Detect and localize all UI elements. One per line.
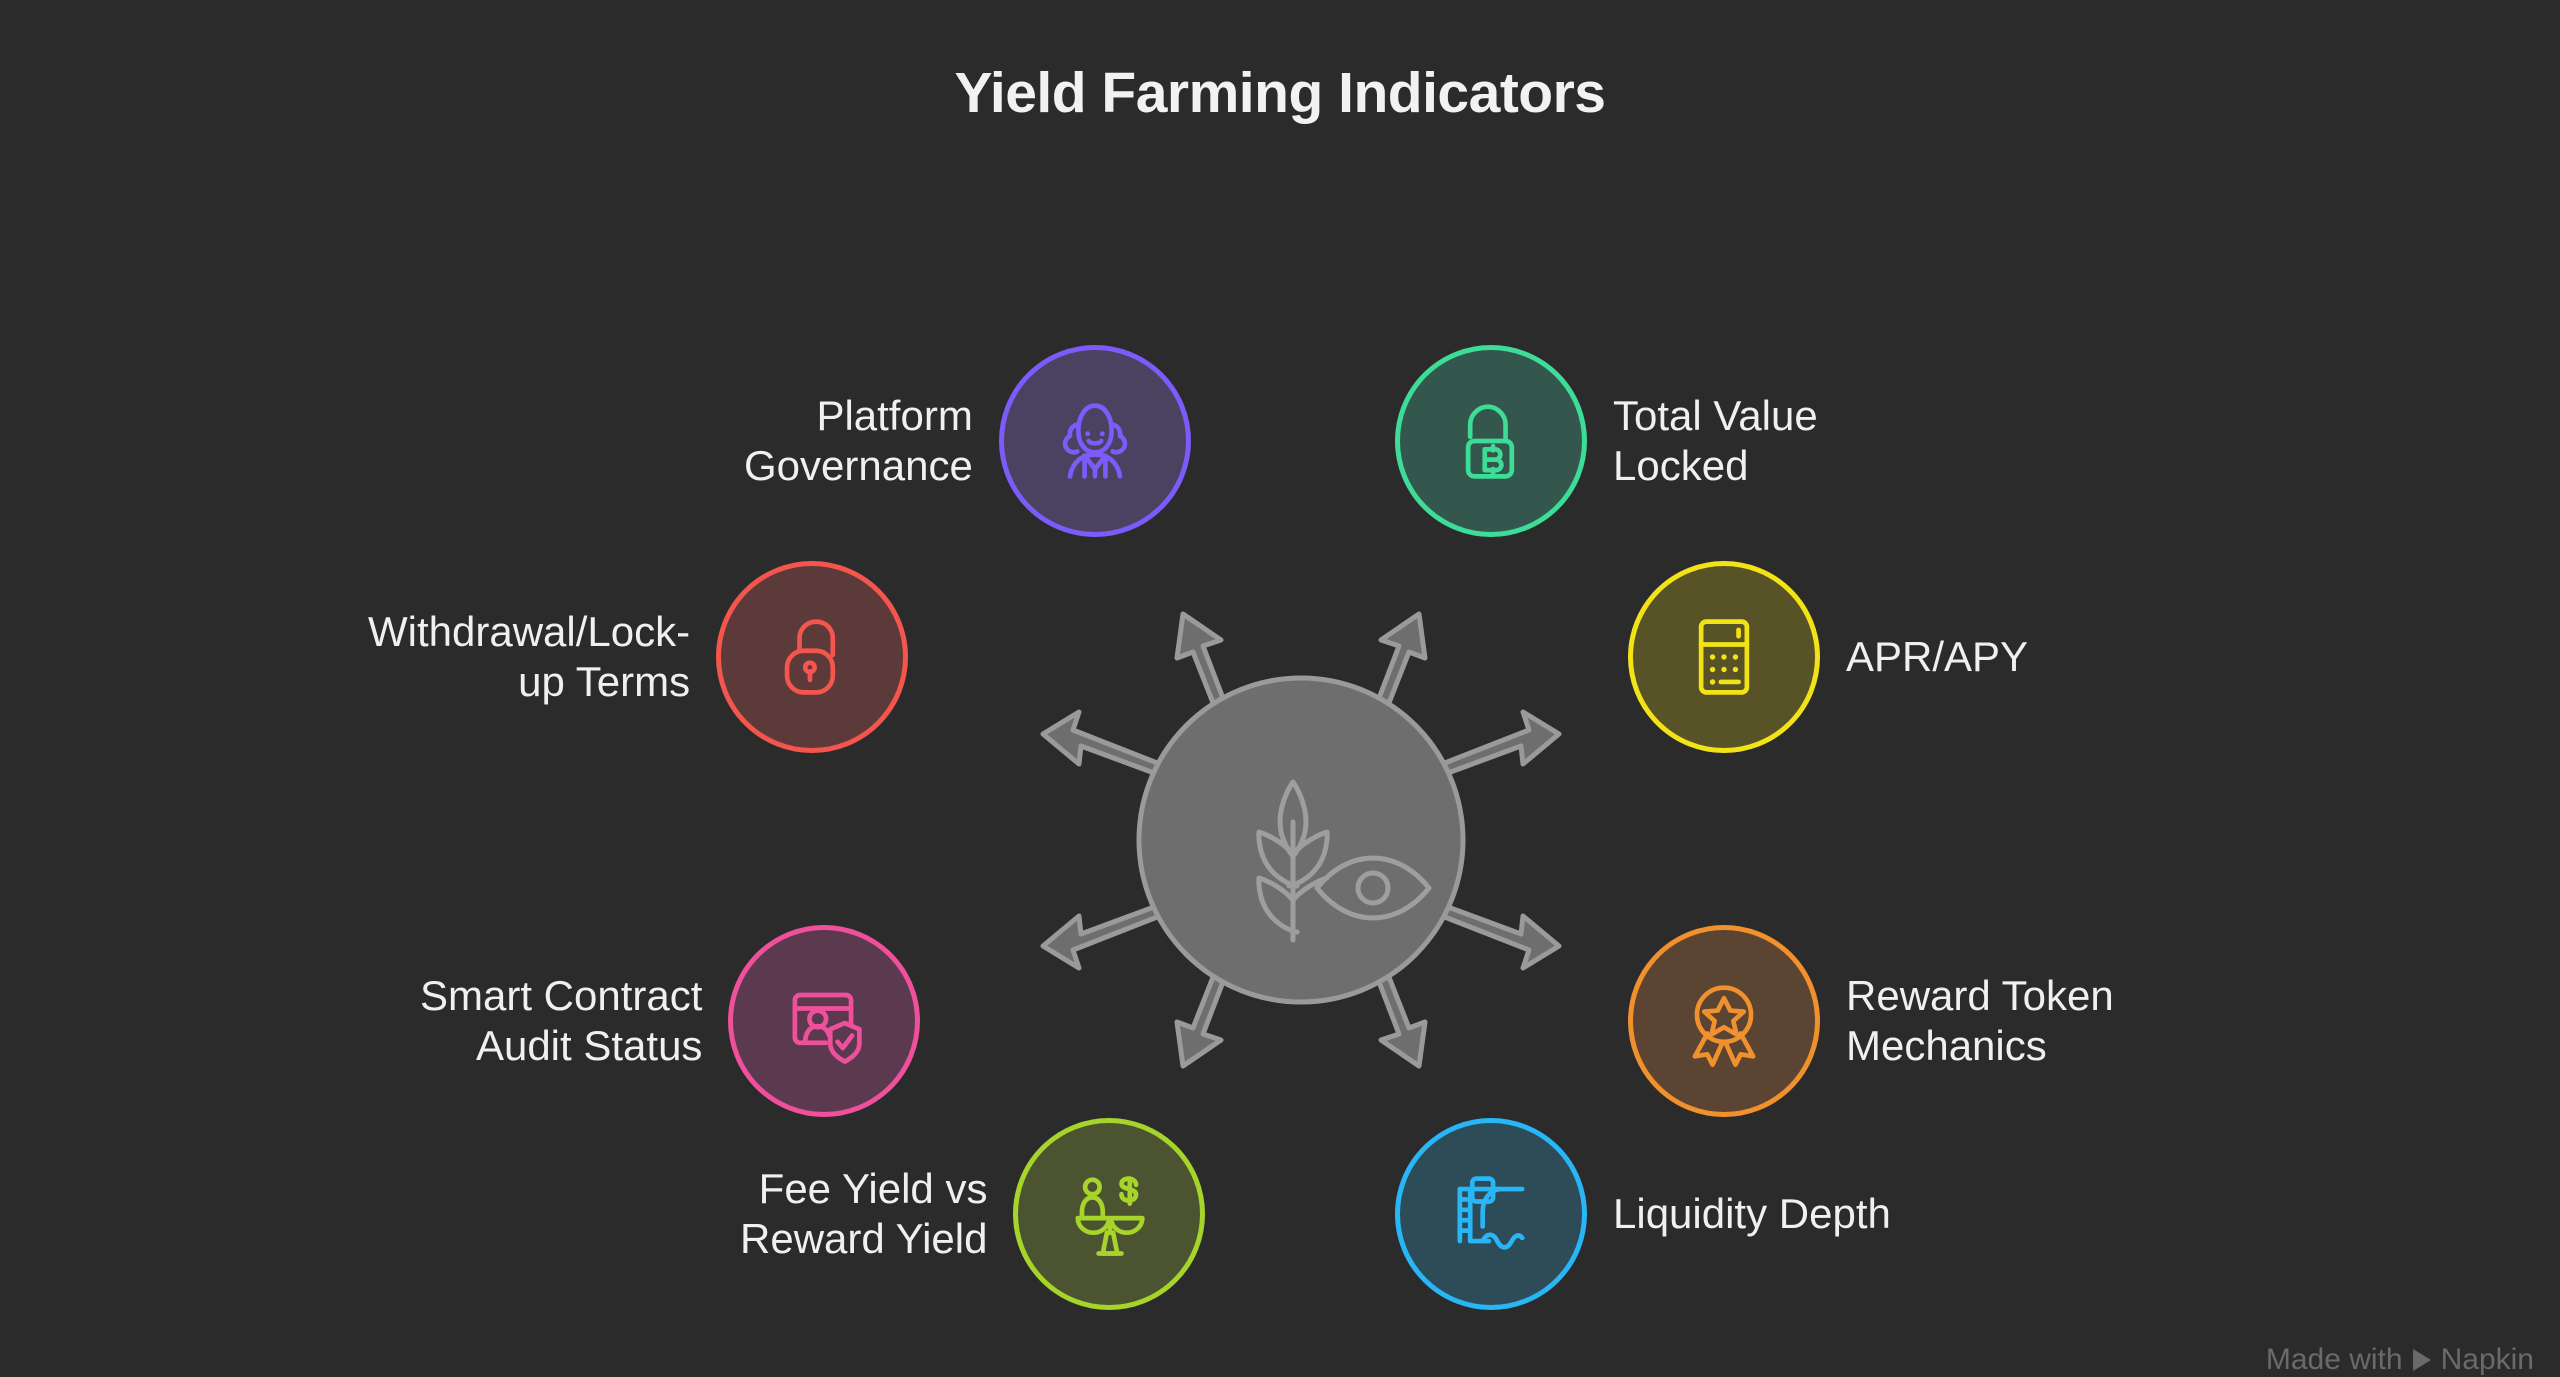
- bitcoin-padlock-icon: [1439, 389, 1543, 493]
- balance-scale-icon: [1057, 1162, 1161, 1266]
- node-smart-contract-audit-status[interactable]: Smart Contract Audit Status: [420, 925, 920, 1117]
- node-label-fee-yield-vs-reward-yield: Fee Yield vs Reward Yield: [740, 1164, 987, 1263]
- node-reward-token-mechanics[interactable]: Reward Token Mechanics: [1628, 925, 2114, 1117]
- node-label-withdrawal-lockup-terms: Withdrawal/Lock- up Terms: [368, 607, 690, 706]
- node-label-smart-contract-audit-status: Smart Contract Audit Status: [420, 971, 702, 1070]
- pool-water-icon: [1439, 1162, 1543, 1266]
- node-withdrawal-lockup-terms[interactable]: Withdrawal/Lock- up Terms: [368, 561, 908, 753]
- infographic-canvas: Yield Farming Indicators: [0, 0, 2560, 1363]
- node-platform-governance[interactable]: Platform Governance: [744, 345, 1191, 537]
- node-total-value-locked[interactable]: Total Value Locked: [1395, 345, 1818, 537]
- node-fee-yield-vs-reward-yield[interactable]: Fee Yield vs Reward Yield: [740, 1118, 1205, 1310]
- page-title: Yield Farming Indicators: [0, 62, 2560, 125]
- play-triangle-icon: [2413, 1349, 2431, 1371]
- node-label-reward-token-mechanics: Reward Token Mechanics: [1846, 971, 2114, 1070]
- badge-liquidity-depth: [1395, 1118, 1587, 1310]
- node-label-total-value-locked: Total Value Locked: [1613, 391, 1818, 490]
- node-label-platform-governance: Platform Governance: [744, 391, 973, 490]
- yield-farming-hub: [1025, 558, 1577, 1118]
- node-label-apr-apy: APR/APY: [1846, 632, 2028, 682]
- watermark-prefix: Made with: [2266, 1343, 2403, 1377]
- calculator-icon: [1672, 605, 1776, 709]
- award-medal-icon: [1672, 969, 1776, 1073]
- badge-smart-contract-audit-status: [728, 925, 920, 1117]
- node-apr-apy[interactable]: APR/APY: [1628, 561, 2028, 753]
- napkin-watermark: Made with Napkin: [2266, 1343, 2534, 1377]
- watermark-brand: Napkin: [2441, 1343, 2534, 1377]
- node-liquidity-depth[interactable]: Liquidity Depth: [1395, 1118, 1891, 1310]
- badge-fee-yield-vs-reward-yield: [1013, 1118, 1205, 1310]
- badge-total-value-locked: [1395, 345, 1587, 537]
- open-padlock-icon: [760, 605, 864, 709]
- badge-reward-token-mechanics: [1628, 925, 1820, 1117]
- badge-platform-governance: [999, 345, 1191, 537]
- audit-shield-icon: [772, 969, 876, 1073]
- badge-apr-apy: [1628, 561, 1820, 753]
- badge-withdrawal-lockup-terms: [716, 561, 908, 753]
- node-label-liquidity-depth: Liquidity Depth: [1613, 1189, 1891, 1239]
- judge-person-icon: [1043, 389, 1147, 493]
